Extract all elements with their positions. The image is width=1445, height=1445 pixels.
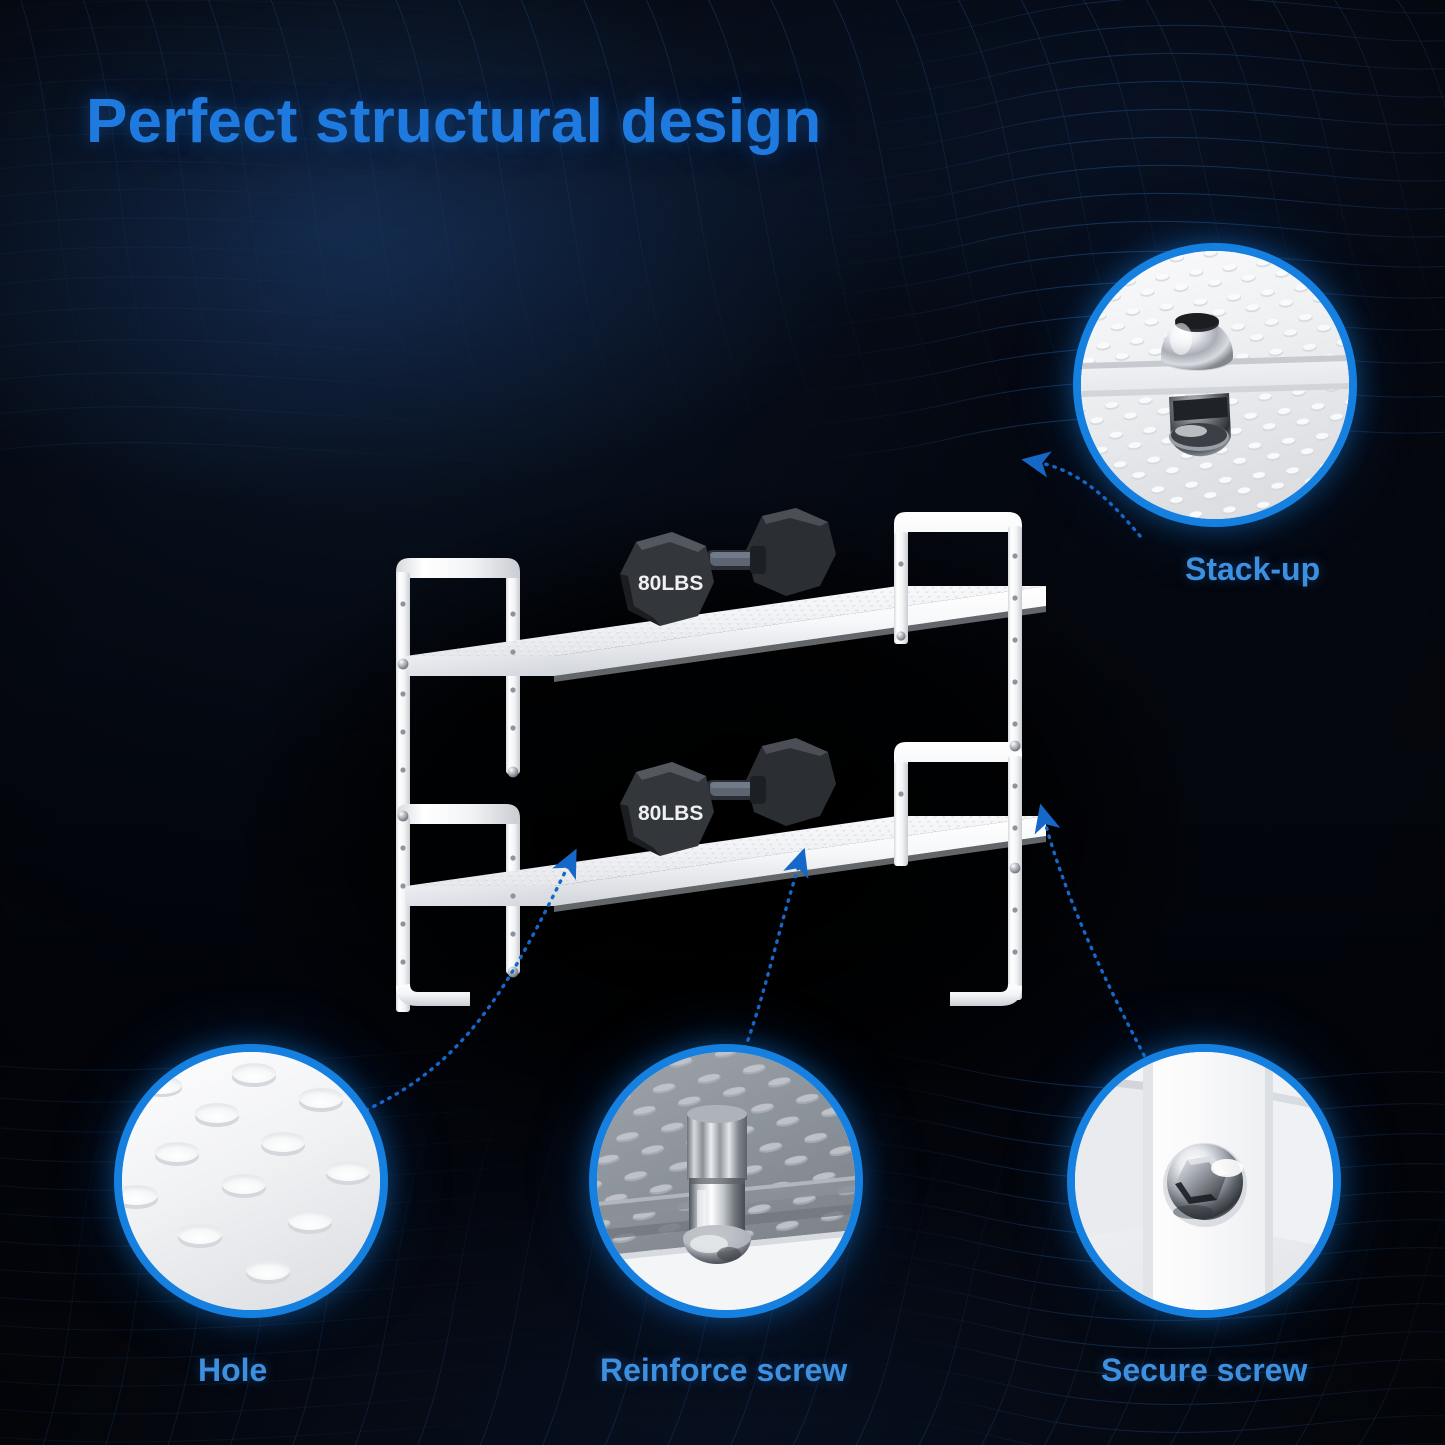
rack-lower-right-back-frame: [894, 742, 1022, 822]
dumbbell-lower-weight-label: 80LBS: [638, 802, 703, 825]
page-title: Perfect structural design: [86, 86, 821, 157]
rack-illustration: 80LBS 80LBS: [378, 486, 1068, 1038]
rack-lower-right-front-post: [1008, 756, 1022, 1000]
callout-label-reinforce-screw: Reinforce screw: [600, 1352, 847, 1389]
stack-up-detail-image: [1081, 251, 1349, 519]
callout-secure-screw[interactable]: [1075, 1052, 1333, 1310]
upper-shelf-left-edge: [406, 656, 554, 676]
product-shelf-rack: 80LBS 80LBS: [378, 486, 1068, 1038]
rack-lower-left-foot: [396, 984, 470, 1006]
infographic-stage: Perfect structural design: [0, 0, 1445, 1445]
rack-upper-right-back-frame: [894, 512, 1022, 592]
callout-hole[interactable]: [122, 1052, 380, 1310]
callout-label-secure-screw: Secure screw: [1101, 1352, 1307, 1389]
rack-upper-right-inner-post: [894, 532, 908, 644]
rack-upper-left-back-frame: [396, 558, 520, 816]
callout-stack-up[interactable]: [1081, 251, 1349, 519]
callout-reinforce-screw[interactable]: [597, 1052, 855, 1310]
rack-upper-right-front-post: [1008, 526, 1022, 778]
lower-shelf-left-edge: [406, 886, 554, 906]
callout-label-hole: Hole: [198, 1352, 267, 1389]
secure-screw-detail-image: [1075, 1052, 1333, 1310]
dumbbell-upper-weight-label: 80LBS: [638, 572, 703, 595]
rack-lower-right-foot: [950, 984, 1022, 1006]
rack-lower-right-inner-post: [894, 762, 908, 866]
callout-label-stack-up: Stack-up: [1185, 551, 1320, 588]
reinforce-screw-detail-image: [597, 1052, 855, 1310]
hole-detail-image: [122, 1052, 380, 1310]
